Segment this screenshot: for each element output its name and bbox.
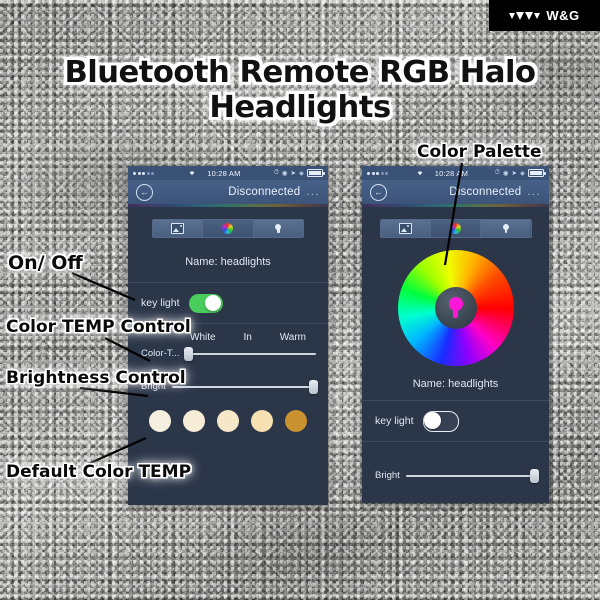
key-light-row: key light bbox=[362, 401, 549, 441]
nav-bar: ← Disconnected ... bbox=[362, 180, 549, 204]
tab-light-bulb[interactable] bbox=[253, 220, 303, 237]
toggle-knob bbox=[424, 412, 441, 429]
slider-knob[interactable] bbox=[184, 347, 193, 361]
tab-color-wheel[interactable] bbox=[430, 220, 480, 237]
tab-image[interactable] bbox=[153, 220, 202, 237]
brand-banner: W&G bbox=[489, 0, 600, 31]
page-title: Bluetooth Remote RGB Halo Headlights bbox=[0, 55, 600, 125]
rainbow-divider bbox=[362, 204, 549, 207]
color-wheel-icon bbox=[222, 223, 233, 234]
annotation-brightness: Brightness Control bbox=[6, 368, 186, 388]
location-arrow-icon: ➤ bbox=[512, 169, 517, 177]
status-time: 10:28 AM bbox=[207, 169, 240, 178]
battery-full-icon bbox=[307, 169, 323, 177]
swatch-2[interactable] bbox=[183, 410, 205, 432]
more-options-button[interactable]: ... bbox=[306, 186, 320, 198]
light-bulb-icon bbox=[503, 224, 509, 234]
signal-dots-icon bbox=[367, 172, 388, 175]
swatch-3[interactable] bbox=[217, 410, 239, 432]
alarm-icon: ⏱ bbox=[274, 169, 279, 177]
color-wheel-center-button[interactable] bbox=[435, 287, 477, 329]
status-bar: 10:28 AM ⏱ ◉ ➤ ◈ bbox=[128, 166, 328, 180]
signal-dots-icon bbox=[133, 172, 154, 175]
bright-slider-row: Bright bbox=[362, 470, 549, 481]
color-wheel-picker[interactable] bbox=[398, 250, 514, 366]
image-icon bbox=[399, 223, 412, 234]
triangle-marks-icon bbox=[509, 12, 540, 20]
swatch-4[interactable] bbox=[251, 410, 273, 432]
nav-title: Disconnected bbox=[228, 186, 300, 198]
annotation-on-off: On/ Off bbox=[8, 252, 83, 274]
annotation-default-temp: Default Color TEMP bbox=[6, 462, 191, 482]
rotation-lock-icon: ◉ bbox=[503, 169, 509, 177]
device-name: Name: headlights bbox=[362, 378, 549, 390]
key-light-label: key light bbox=[141, 297, 180, 309]
color-temp-label: Color-T... bbox=[141, 348, 180, 359]
annotation-color-temp: Color TEMP Control bbox=[6, 317, 191, 337]
bright-slider[interactable] bbox=[406, 475, 537, 477]
light-bulb-icon bbox=[449, 297, 463, 319]
color-wheel-icon bbox=[450, 223, 461, 234]
toggle-knob bbox=[205, 295, 221, 311]
color-temp-slider-row: Color-T... bbox=[128, 348, 328, 359]
bright-label: Bright bbox=[375, 470, 400, 481]
battery-full-icon bbox=[528, 169, 544, 177]
tab-color-wheel[interactable] bbox=[202, 220, 252, 237]
bright-slider[interactable] bbox=[172, 386, 316, 388]
brand-name: W&G bbox=[546, 8, 579, 23]
tab-bar bbox=[380, 219, 532, 238]
temp-label-white: White bbox=[190, 332, 216, 343]
annotation-color-palette: Color Palette bbox=[417, 142, 542, 162]
light-bulb-icon bbox=[275, 224, 281, 234]
wifi-icon bbox=[415, 168, 425, 178]
key-light-label: key light bbox=[375, 415, 414, 427]
more-options-button[interactable]: ... bbox=[527, 186, 541, 198]
divider bbox=[362, 441, 549, 442]
slider-knob[interactable] bbox=[309, 380, 318, 394]
rainbow-divider bbox=[128, 204, 328, 207]
phone-screen-right: 10:28 AM ⏱ ◉ ➤ ◈ ← Disconnected ... Name… bbox=[362, 166, 549, 503]
nav-title: Disconnected bbox=[449, 186, 521, 198]
swatch-5[interactable] bbox=[285, 410, 307, 432]
alarm-icon: ⏱ bbox=[495, 169, 500, 177]
rotation-lock-icon: ◉ bbox=[282, 169, 288, 177]
tab-light-bulb[interactable] bbox=[480, 220, 530, 237]
temp-label-warm: Warm bbox=[280, 332, 306, 343]
bluetooth-icon: ◈ bbox=[299, 169, 304, 177]
bluetooth-icon: ◈ bbox=[520, 169, 525, 177]
nav-bar: ← Disconnected ... bbox=[128, 180, 328, 204]
status-time: 10:28 AM bbox=[435, 169, 468, 178]
key-light-toggle[interactable] bbox=[189, 294, 223, 313]
temp-label-in: In bbox=[243, 332, 251, 343]
back-arrow-icon[interactable]: ← bbox=[370, 184, 387, 201]
back-arrow-icon[interactable]: ← bbox=[136, 184, 153, 201]
swatch-1[interactable] bbox=[149, 410, 171, 432]
location-arrow-icon: ➤ bbox=[291, 169, 296, 177]
tab-image[interactable] bbox=[381, 220, 430, 237]
tab-bar bbox=[152, 219, 304, 238]
key-light-toggle[interactable] bbox=[423, 411, 459, 432]
status-bar: 10:28 AM ⏱ ◉ ➤ ◈ bbox=[362, 166, 549, 180]
wifi-icon bbox=[187, 168, 197, 178]
color-preset-swatches bbox=[128, 410, 328, 432]
color-temp-slider[interactable] bbox=[186, 353, 316, 355]
image-icon bbox=[171, 223, 184, 234]
device-name: Name: headlights bbox=[128, 256, 328, 268]
slider-knob[interactable] bbox=[530, 469, 539, 483]
